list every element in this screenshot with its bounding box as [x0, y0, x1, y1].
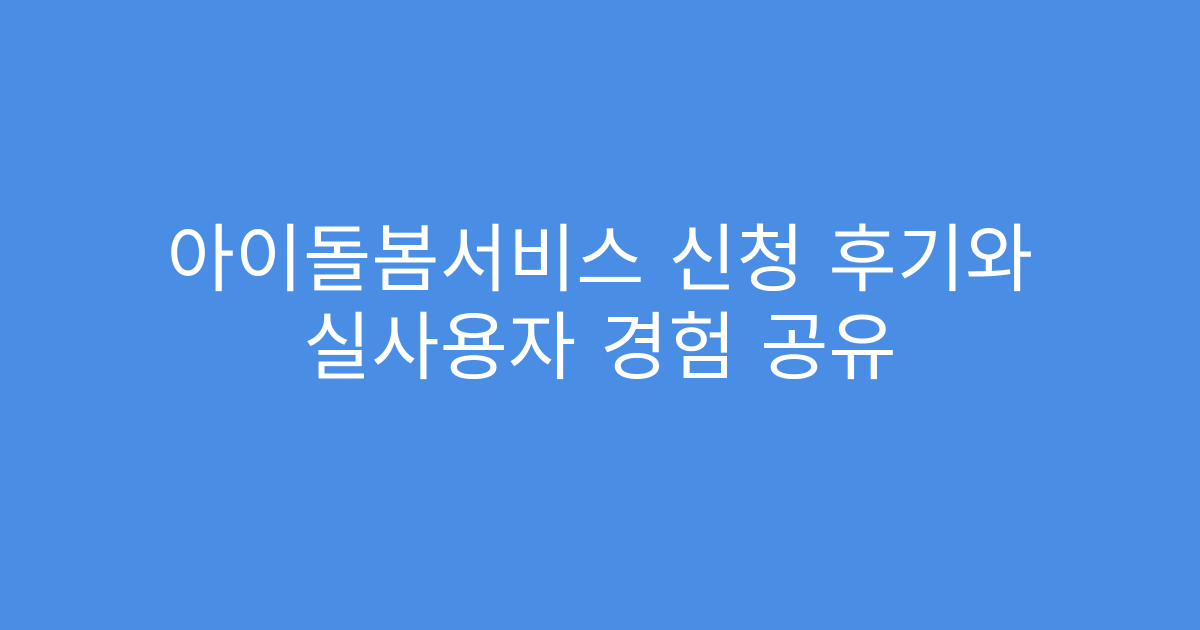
share-card-canvas: 아이돌봄서비스 신청 후기와 실사용자 경험 공유 — [0, 0, 1200, 630]
page-title: 아이돌봄서비스 신청 후기와 실사용자 경험 공유 — [70, 216, 1130, 414]
